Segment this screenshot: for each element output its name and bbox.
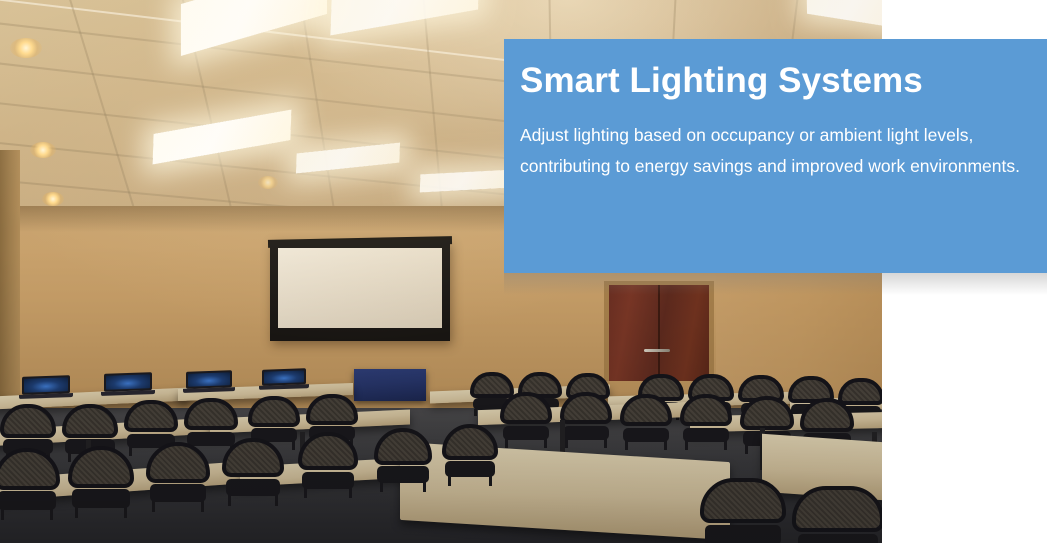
- laptop-lid: [22, 375, 70, 394]
- chair: [146, 442, 210, 512]
- laptop: [186, 370, 232, 393]
- laptop-screen: [106, 374, 150, 389]
- downlight-icon: [258, 176, 278, 189]
- caption-body-text: Adjust lighting based on occupancy or am…: [520, 120, 1023, 182]
- chair: [68, 446, 134, 518]
- chair: [560, 392, 612, 448]
- laptop-lid: [262, 368, 306, 386]
- chair: [500, 392, 552, 448]
- chair: [374, 428, 432, 492]
- page-title: Smart Lighting Systems: [520, 59, 1023, 102]
- slide-canvas: Smart Lighting Systems Adjust lighting b…: [0, 0, 1047, 543]
- laptop-screen: [188, 372, 230, 386]
- laptop-lid: [104, 372, 152, 391]
- laptop-lid: [186, 370, 232, 388]
- blue-draped-table: [354, 369, 426, 401]
- door-handle: [644, 349, 670, 352]
- chair: [792, 486, 882, 543]
- chair: [700, 478, 786, 543]
- chair: [680, 394, 732, 450]
- door-split-line: [658, 285, 660, 381]
- laptop: [22, 375, 70, 399]
- downlight-icon: [42, 192, 64, 206]
- downlight-icon: [10, 38, 42, 58]
- laptop-screen: [264, 370, 304, 383]
- chair: [222, 438, 284, 506]
- laptop-screen: [24, 377, 68, 392]
- chair: [0, 448, 60, 520]
- chair: [298, 432, 358, 498]
- laptop: [104, 372, 152, 396]
- chair: [620, 394, 672, 450]
- chair: [442, 424, 498, 486]
- caption-panel: Smart Lighting Systems Adjust lighting b…: [504, 39, 1047, 273]
- downlight-icon: [30, 142, 56, 158]
- projection-screen-surface: [278, 248, 442, 328]
- laptop: [262, 368, 306, 390]
